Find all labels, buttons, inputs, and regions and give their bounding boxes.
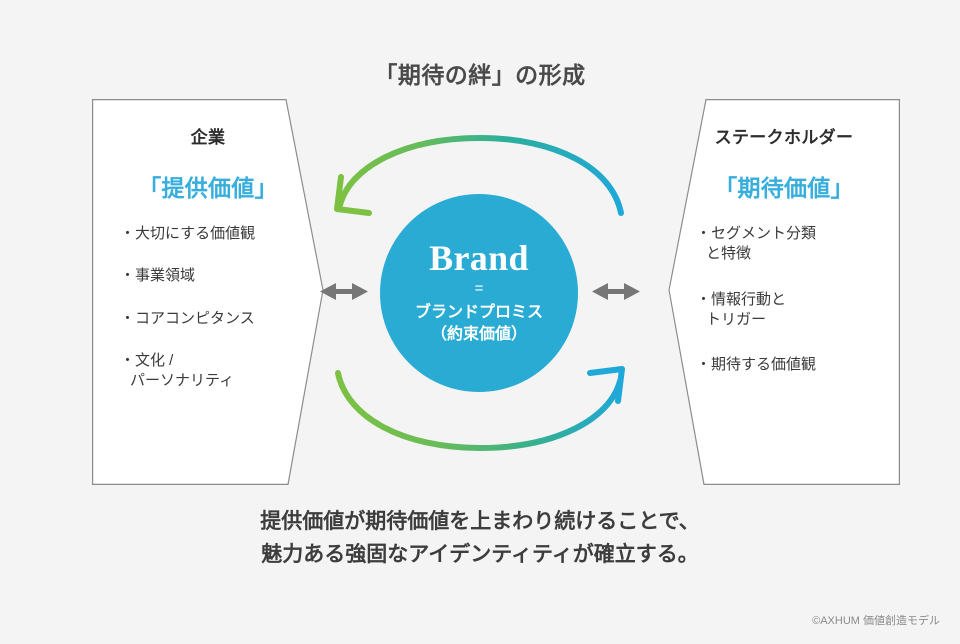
left-panel-list: ・大切にする価値観 ・事業領域 ・コアコンピタンス ・文化 / パーソナリティ bbox=[120, 224, 304, 413]
list-item: ・セグメント分類 と特徴 bbox=[696, 224, 886, 265]
diagram-canvas: 「期待の絆」の形成 企業 「提供価値」 ・大切にする価値観 ・事業領域 ・コアコ… bbox=[0, 0, 960, 644]
list-item: ・大切にする価値観 bbox=[120, 224, 304, 244]
right-panel-subheading: 「期待価値」 bbox=[668, 169, 900, 203]
right-panel-list: ・セグメント分類 と特徴 ・情報行動と トリガー ・期待する価値観 bbox=[696, 224, 886, 400]
list-item: ・コアコンピタンス bbox=[120, 309, 304, 329]
list-item: ・文化 / パーソナリティ bbox=[120, 351, 304, 392]
left-panel-company: 企業 「提供価値」 ・大切にする価値観 ・事業領域 ・コアコンピタンス ・文化 … bbox=[92, 99, 324, 485]
footer-credit: ©AXHUM 価値創造モデル bbox=[812, 612, 940, 628]
list-item: ・事業領域 bbox=[120, 266, 304, 286]
right-panel-stakeholder: ステークホルダー 「期待価値」 ・セグメント分類 と特徴 ・情報行動と トリガー… bbox=[668, 99, 900, 485]
right-panel-heading: ステークホルダー bbox=[668, 123, 900, 148]
brand-circle: Brand = ブランドプロミス （約束価値） bbox=[380, 194, 578, 392]
brand-promise-text: ブランドプロミス （約束価値） bbox=[415, 302, 543, 345]
brand-word: Brand bbox=[429, 240, 529, 276]
list-item: ・期待する価値観 bbox=[696, 355, 886, 375]
left-panel-subheading: 「提供価値」 bbox=[92, 169, 324, 203]
page-title: 「期待の絆」の形成 bbox=[0, 56, 960, 90]
caption-text: 提供価値が期待価値を上まわり続けることで、 魅力ある強固なアイデンティティが確立… bbox=[0, 506, 960, 571]
right-double-arrow-icon bbox=[592, 283, 640, 300]
left-double-arrow-icon bbox=[320, 283, 368, 300]
equals-sign: = bbox=[475, 281, 484, 296]
list-item: ・情報行動と トリガー bbox=[696, 290, 886, 331]
left-panel-heading: 企業 bbox=[92, 123, 324, 148]
